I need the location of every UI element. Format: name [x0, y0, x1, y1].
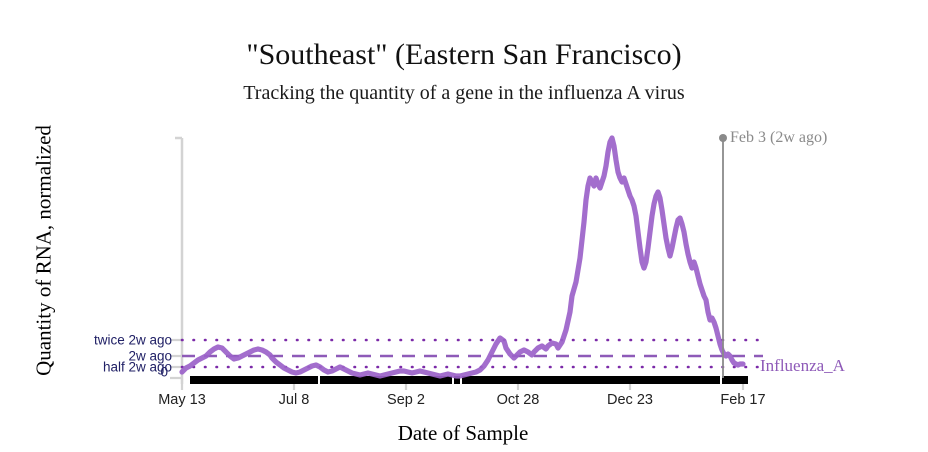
- series-legend-label-0[interactable]: Influenza_A: [760, 356, 845, 376]
- sample-rug-segment-3: [462, 376, 720, 384]
- x-tick-label-1: Jul 8: [279, 392, 310, 408]
- influenza-chart: "Southeast" (Eastern San Francisco) Trac…: [0, 0, 928, 452]
- x-tick-label-4: Dec 23: [607, 392, 653, 408]
- x-tick-label-0: May 13: [158, 392, 206, 408]
- y-tick-label-zero: 0: [160, 365, 168, 380]
- sample-rug-segment-1: [320, 376, 452, 384]
- sample-rug-segment-4: [722, 376, 748, 384]
- annotation-label: Feb 3 (2w ago): [730, 129, 827, 147]
- series-line-0: [182, 138, 743, 376]
- reference-label-0: twice 2w ago: [94, 333, 172, 348]
- x-tick-label-3: Oct 28: [497, 392, 540, 408]
- plot-area: [0, 0, 928, 452]
- sample-rug-segment-0: [190, 376, 318, 384]
- x-tick-label-2: Sep 2: [387, 392, 425, 408]
- x-tick-label-5: Feb 17: [720, 392, 765, 408]
- annotation-dot-icon: [719, 134, 727, 142]
